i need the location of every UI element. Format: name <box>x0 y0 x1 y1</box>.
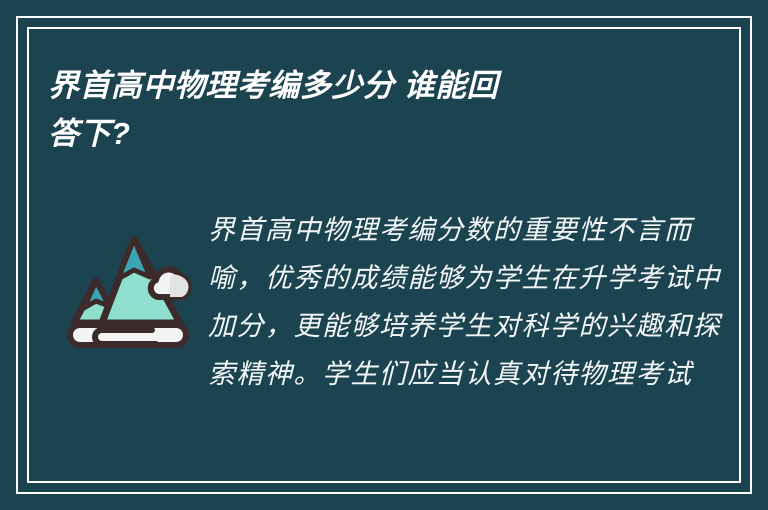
fog-bar-icon <box>70 325 186 345</box>
article-content: 界首高中物理考编分数的重要性不言而喻，优秀的成绩能够为学生在升学考试中加分，更能… <box>48 205 728 482</box>
article-body: 界首高中物理考编分数的重要性不言而喻，优秀的成绩能够为学生在升学考试中加分，更能… <box>208 205 728 399</box>
mountain-landscape-icon <box>62 217 194 349</box>
article-card: 界首高中物理考编多少分 谁能回 答下? <box>0 0 768 510</box>
illustration-container <box>48 205 208 349</box>
page-title: 界首高中物理考编多少分 谁能回 答下? <box>48 62 668 158</box>
cloud-icon <box>151 270 189 297</box>
